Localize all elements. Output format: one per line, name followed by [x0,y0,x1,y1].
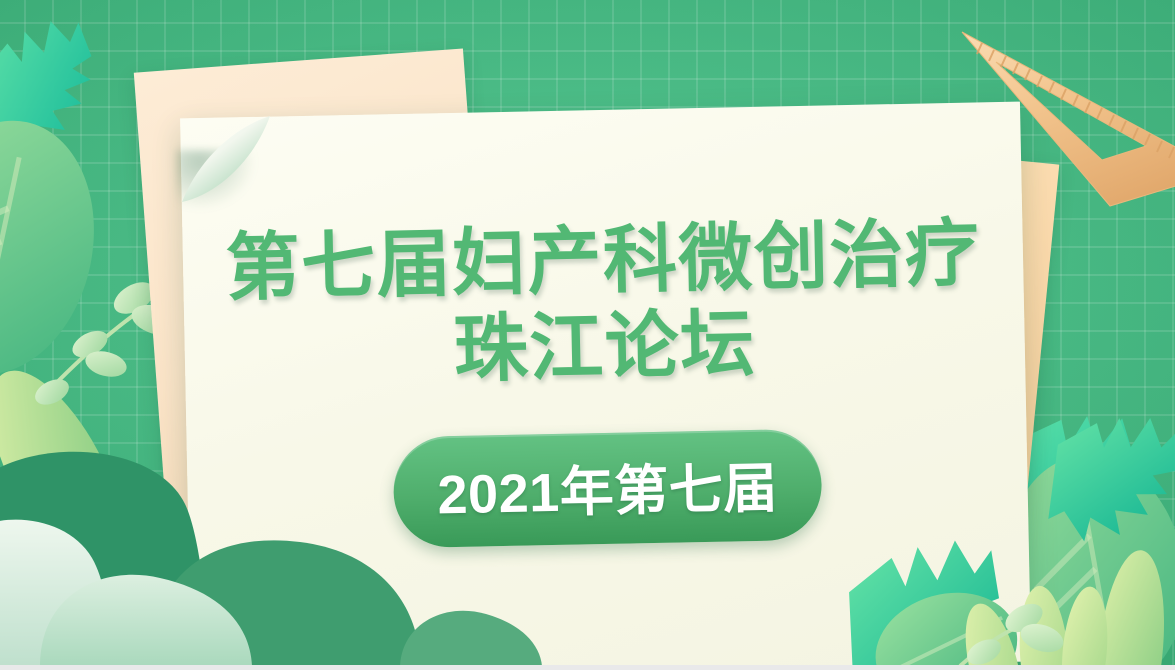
bottom-edge-strip [0,665,1175,670]
poster-title-line-2: 珠江论坛 [453,305,756,389]
poster-title-line-1: 第七届妇产科微创治疗 [225,214,981,308]
event-poster: 第七届妇产科微创治疗 珠江论坛 2021年第七届 [0,0,1175,670]
bush-medium-right [400,611,542,666]
bush-cluster [0,446,560,666]
